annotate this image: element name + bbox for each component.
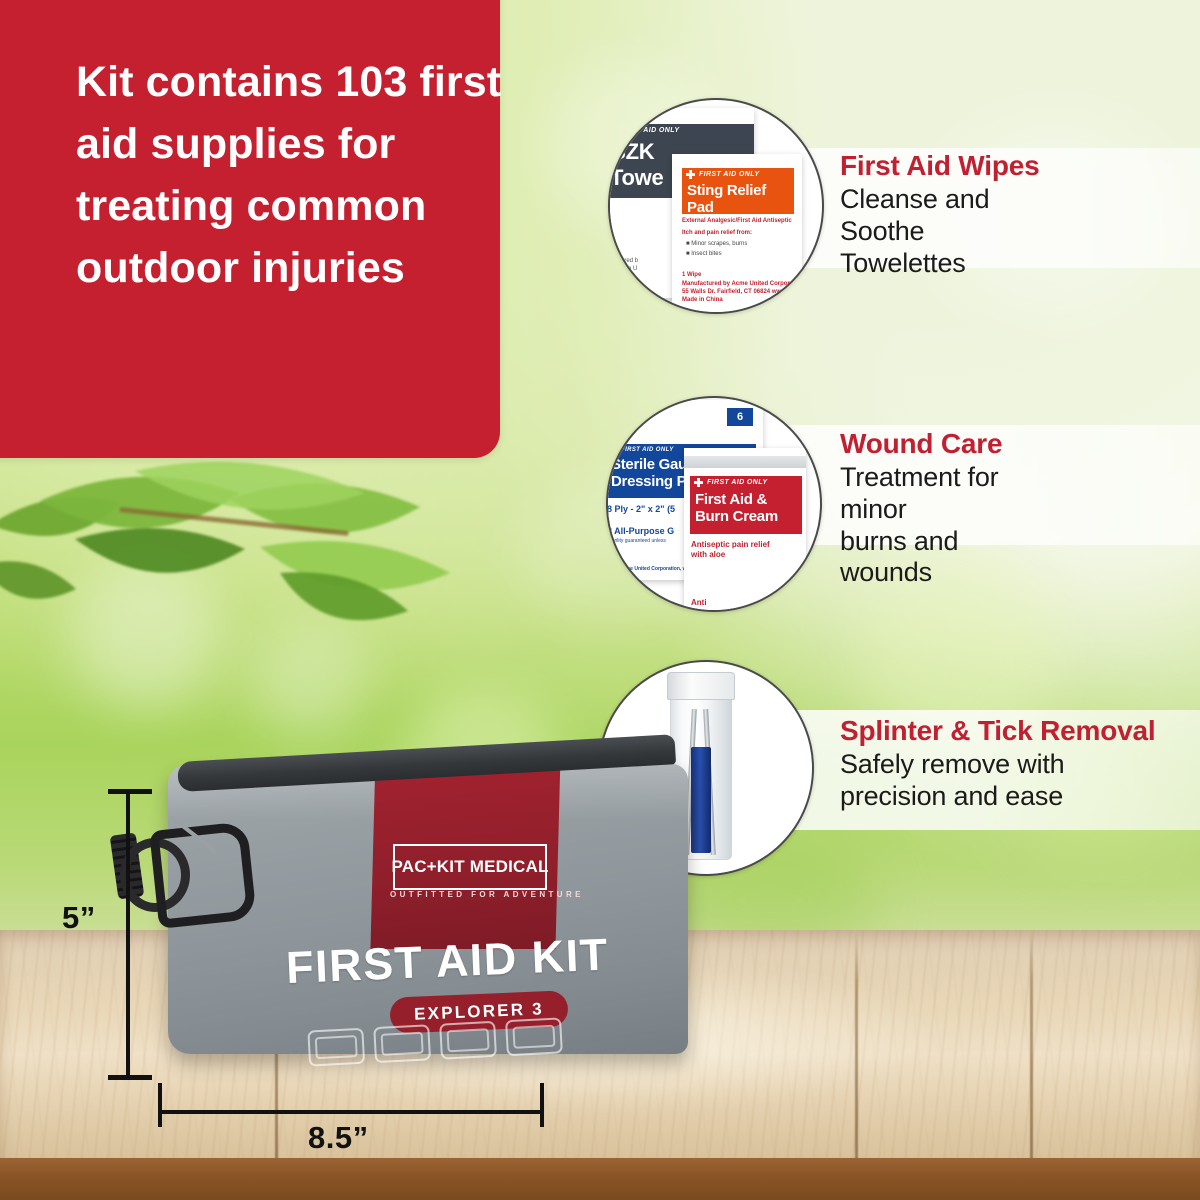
- gauze-count-value: 6: [737, 411, 743, 423]
- medical-cross-icon: [608, 126, 615, 135]
- callout-title-wound-care: Wound Care: [840, 428, 1002, 459]
- bag-brand-name: PAC+KIT MEDICAL: [391, 857, 548, 877]
- bag-feature-icon-gauze: [439, 1021, 497, 1060]
- sting-relief-label: Itch and pain relief from:: [682, 230, 798, 238]
- medical-cross-icon: [610, 446, 617, 453]
- dim-width-tick-left: [158, 1083, 162, 1127]
- sting-subtitle: External Analgesic/First Aid Antiseptic: [682, 218, 798, 226]
- dim-height-tick-top: [108, 789, 152, 794]
- callout-desc-splinter-line1: Safely remove with: [840, 749, 1155, 781]
- product-bubble-wipes: FIRST AID ONLY BZK Towe ufactured b21 Ac…: [608, 98, 824, 314]
- bzk-fineprint: ufactured b21 Acme Une Dr: [608, 258, 638, 281]
- gauze-count-badge: 6: [727, 408, 753, 426]
- carabiner-body-icon: [149, 821, 257, 929]
- dim-height-line: [126, 789, 130, 1079]
- burn-cream-footer: Anti: [691, 598, 707, 608]
- callout-title-wipes: First Aid Wipes: [840, 150, 1040, 181]
- callout-desc-wound-care-line1: Treatment for minor: [840, 462, 1002, 525]
- callout-text-splinter: Splinter & Tick Removal Safely remove wi…: [840, 715, 1155, 813]
- burn-cream-subtitle-2: with aloe: [691, 550, 725, 560]
- bag-feature-icon-bandage: [307, 1028, 365, 1067]
- bag-feature-icon-scissors: [505, 1017, 563, 1056]
- table-front-edge: [0, 1158, 1200, 1200]
- bag-feature-icon-tent: [373, 1024, 431, 1063]
- gauze-contents: 2 All-Purpose G: [607, 526, 674, 537]
- callout-title-splinter: Splinter & Tick Removal: [840, 715, 1155, 746]
- plank-seam: [1030, 930, 1033, 1160]
- first-aid-only-logo: FIRST AID ONLY: [608, 124, 754, 137]
- burn-cream-subtitle-1: Antiseptic pain relief: [691, 540, 770, 550]
- sting-bullet-2-text: Insect bites: [691, 251, 721, 257]
- plank-seam: [855, 930, 858, 1160]
- headline-text: Kit contains 103 first aid supplies for …: [76, 52, 506, 300]
- sting-manufacturer-1: Manufactured by Acme United Corporation: [682, 281, 807, 289]
- bag-brand-logo-box: PAC+KIT MEDICAL: [393, 844, 547, 890]
- carabiner-clip: [120, 816, 240, 916]
- product-infographic: Kit contains 103 first aid supplies for …: [0, 0, 1200, 1200]
- callout-text-wound-care: Wound Care Treatment for minor burns and…: [840, 428, 1002, 589]
- first-aid-only-logo: FIRST AID ONLY: [690, 476, 802, 489]
- callout-desc-wound-care-line2: burns and wounds: [840, 526, 1002, 589]
- callout-desc-wipes-line2: Soothe Towelettes: [840, 216, 1040, 279]
- sting-bullet-1-text: Minor scrapes, burns: [691, 241, 747, 247]
- sting-relief-pad-package: FIRST AID ONLY Sting Relief Pad External…: [672, 154, 802, 314]
- product-bubble-wound-care: PEEL DOWNTO OPEN 6 FIRST AID ONLY Steril…: [606, 396, 822, 612]
- bag-tagline: OUTFITTED FOR ADVENTURE: [390, 890, 550, 899]
- callout-desc-splinter-line2: precision and ease: [840, 781, 1155, 813]
- burn-cream-name-line2: Burn Cream: [690, 508, 802, 525]
- medical-cross-icon: [694, 478, 703, 487]
- sting-relief-name: Sting Relief Pad: [682, 181, 794, 216]
- dim-width-label: 8.5”: [308, 1120, 369, 1156]
- peel-label: PEEL DOWNTO OPEN: [620, 412, 650, 424]
- dim-height-tick-bottom: [108, 1075, 152, 1080]
- sting-manufacturer-3: Made in China: [682, 297, 723, 305]
- sting-quantity: 1 Wipe: [682, 272, 701, 280]
- callout-text-wipes: First Aid Wipes Cleanse and Soothe Towel…: [840, 150, 1040, 279]
- dim-width-line: [158, 1110, 544, 1114]
- first-aid-kit-bag: PAC+KIT MEDICAL OUTFITTED FOR ADVENTURE …: [168, 742, 688, 1057]
- dim-width-tick-right: [540, 1083, 544, 1127]
- burn-cream-package: FIRST AID ONLY First Aid & Burn Cream An…: [684, 448, 806, 612]
- gauze-spec: 8 Ply - 2" x 2" (5: [607, 504, 675, 515]
- first-aid-only-logo: FIRST AID ONLY: [682, 168, 794, 181]
- tweezer-grip: [691, 747, 711, 853]
- gauze-sterile-note: Sterility guaranteed unless: [607, 538, 666, 544]
- burn-cream-name-line1: First Aid &: [690, 489, 802, 508]
- sting-bullet-2: ■ Insect bites: [686, 251, 722, 259]
- callout-desc-wipes-line1: Cleanse and: [840, 184, 1040, 216]
- tweezer-tube-cap: [667, 672, 735, 700]
- leaf-cluster: [0, 455, 540, 675]
- medical-cross-icon: [686, 170, 695, 179]
- dim-height-label: 5”: [62, 900, 96, 936]
- sting-bullet-1: ■ Minor scrapes, burns: [686, 241, 747, 249]
- sting-manufacturer-2: 55 Walls Dr. Fairfield, CT 06824 www: [682, 289, 807, 297]
